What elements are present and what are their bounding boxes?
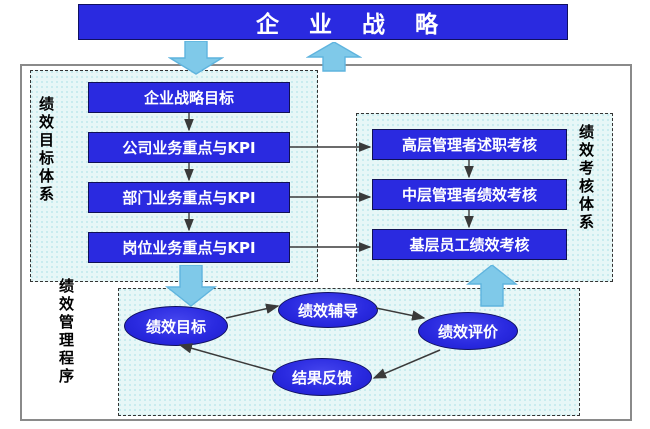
ellipse-performance-coaching[interactable]: 绩效辅导 <box>278 292 378 328</box>
label-goal-system: 绩效目标体系 <box>38 96 53 204</box>
box-staff-appraisal[interactable]: 基层员工绩效考核 <box>372 229 567 260</box>
down-block-arrow-to-cycle <box>165 265 217 307</box>
label-management-process: 绩效管理程序 <box>58 278 73 386</box>
ellipse-result-feedback[interactable]: 结果反馈 <box>272 358 372 396</box>
ellipse-performance-evaluation[interactable]: 绩效评价 <box>418 312 518 350</box>
label-appraisal-system: 绩效考核体系 <box>578 124 593 232</box>
box-position-kpi[interactable]: 岗位业务重点与KPI <box>88 232 290 263</box>
box-corporate-strategy-goal[interactable]: 企业战略目标 <box>88 82 290 113</box>
box-department-kpi[interactable]: 部门业务重点与KPI <box>88 182 290 213</box>
box-senior-manager-appraisal[interactable]: 高层管理者述职考核 <box>372 129 567 160</box>
up-block-arrow-to-appraisal <box>466 265 518 307</box>
box-middle-manager-appraisal[interactable]: 中层管理者绩效考核 <box>372 179 567 210</box>
up-block-arrow-to-banner <box>306 42 362 72</box>
down-block-arrow-to-goals <box>168 41 224 75</box>
ellipse-performance-goal[interactable]: 绩效目标 <box>124 306 228 346</box>
diagram-canvas: 企 业 战 略 绩效目标体系 绩效考核体系 绩效管理程序 企业战略目标 公司业务… <box>0 0 650 429</box>
box-company-kpi[interactable]: 公司业务重点与KPI <box>88 132 290 163</box>
strategy-banner: 企 业 战 略 <box>78 4 568 40</box>
